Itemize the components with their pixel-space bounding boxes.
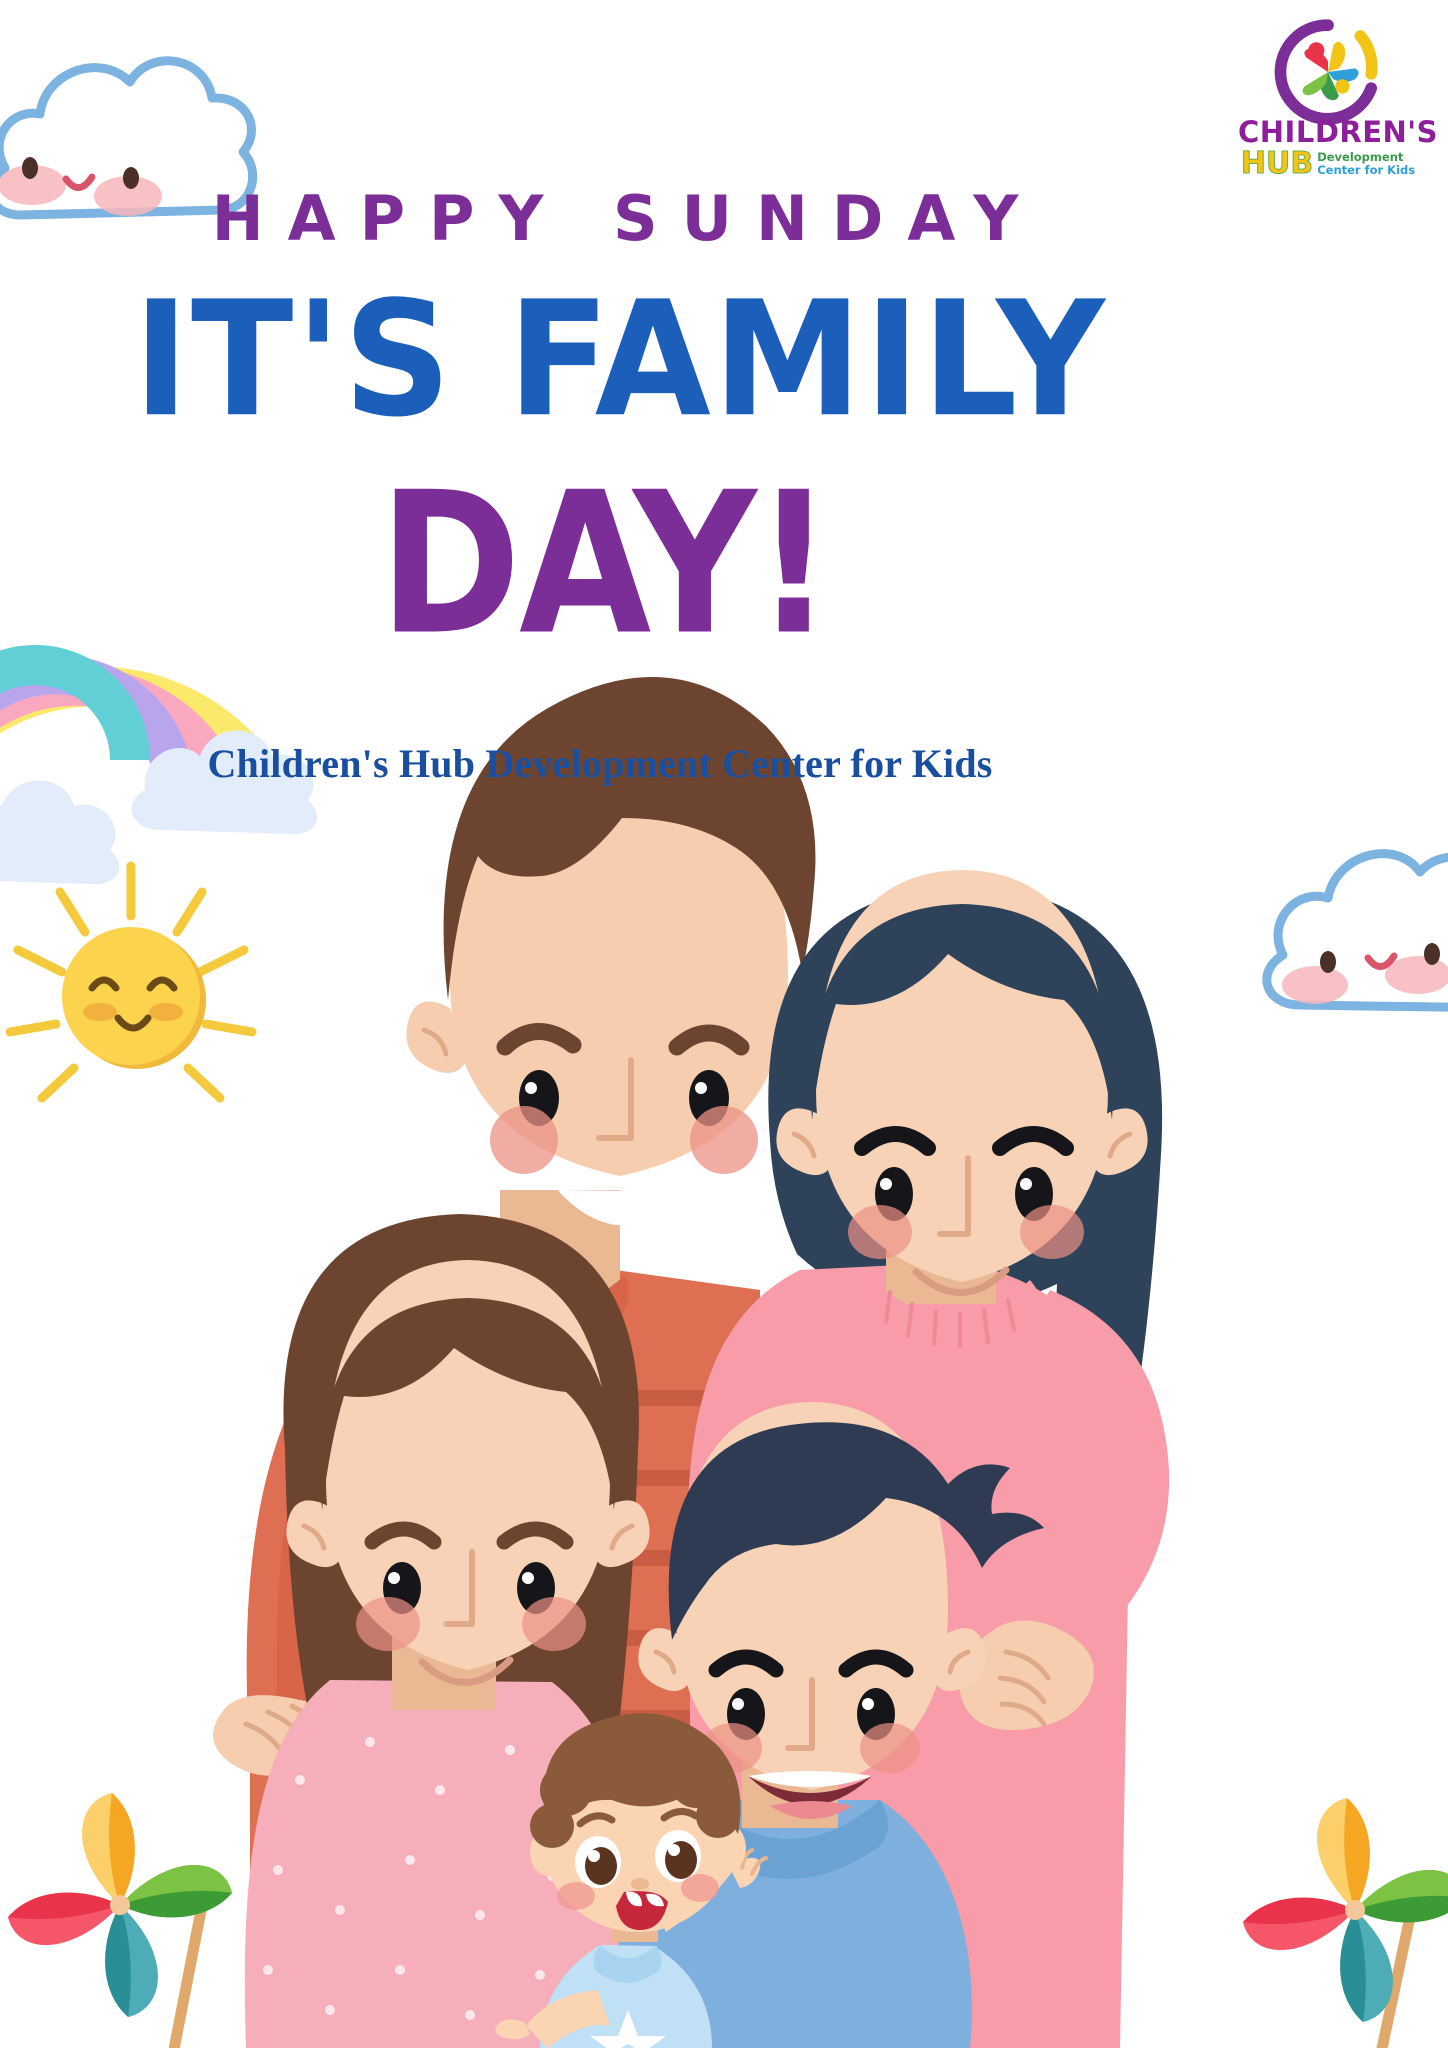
- logo-tagline-line2: Center for Kids: [1317, 164, 1415, 177]
- poster-canvas: CHILDREN'S HUB Development Center for Ki…: [0, 0, 1448, 2048]
- eyebrow-heading: HAPPY SUNDAY: [0, 182, 1230, 255]
- brand-logo[interactable]: CHILDREN'S HUB Development Center for Ki…: [1238, 18, 1418, 188]
- logo-hub-text: HUB: [1241, 150, 1313, 179]
- logo-tagline: Development Center for Kids: [1317, 151, 1415, 177]
- logo-mark-icon: [1274, 18, 1382, 126]
- main-heading-line1: IT'S FAMILY: [0, 268, 1240, 452]
- logo-name-text: CHILDREN'S: [1238, 118, 1418, 147]
- subtitle-text: Children's Hub Development Center for Ki…: [0, 740, 1200, 787]
- main-heading-line2: DAY!: [24, 450, 1186, 678]
- family-member-daughter: [245, 1214, 650, 2048]
